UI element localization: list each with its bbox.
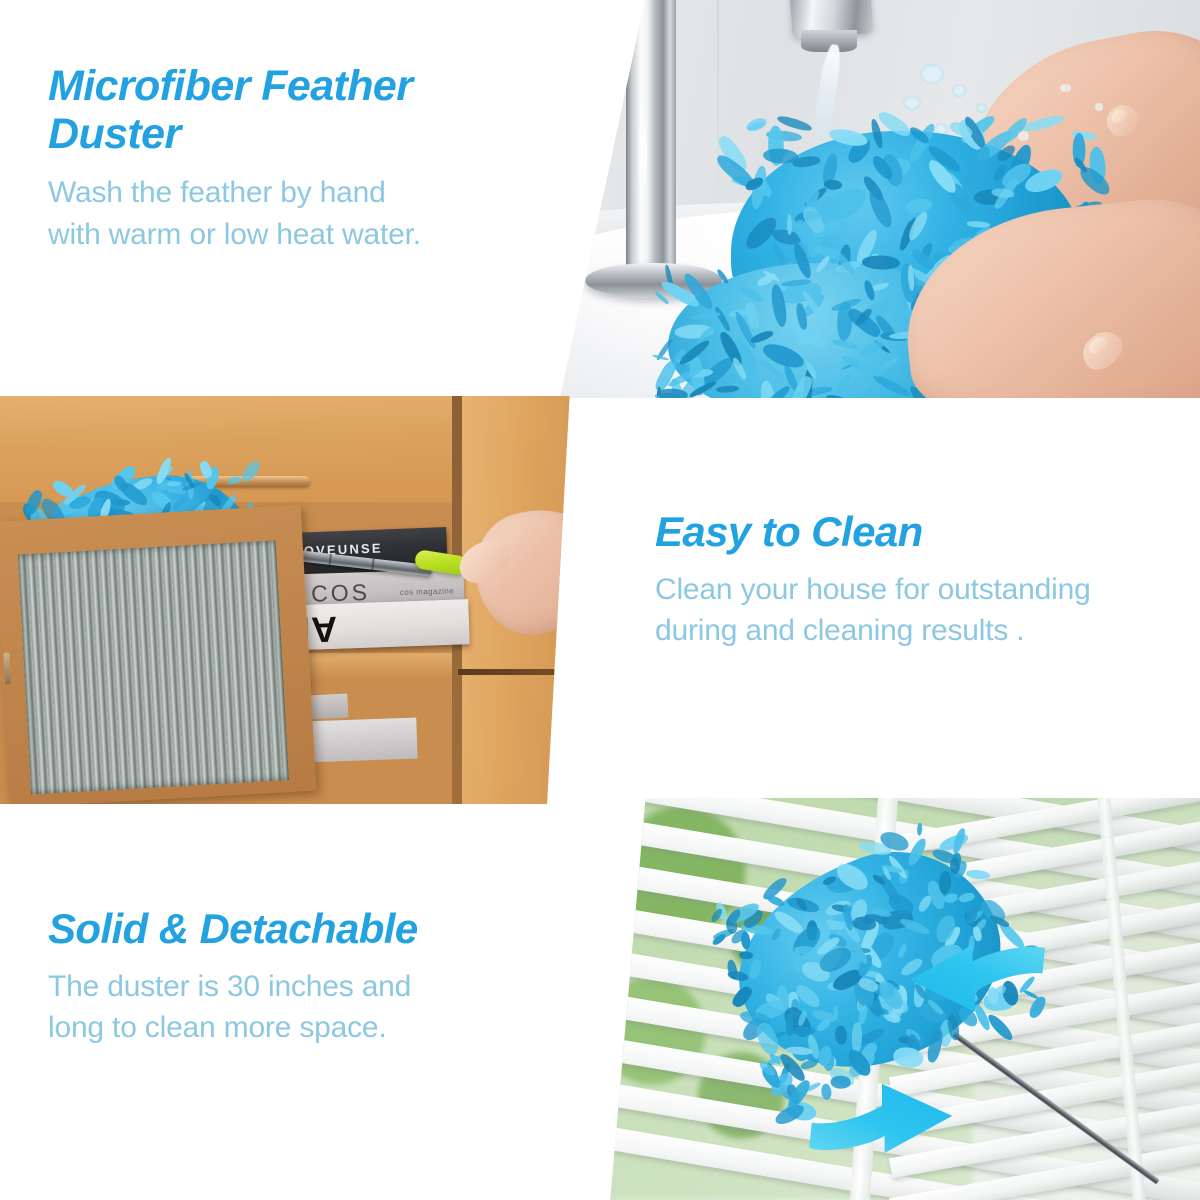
feature-1-subtitle: Wash the feather by hand with warm or lo…	[48, 172, 528, 255]
fingernail	[1109, 106, 1129, 126]
water-droplet	[1060, 84, 1071, 93]
chenille-strand	[786, 1015, 794, 1037]
water-splash	[903, 96, 921, 110]
chenille-strand	[171, 495, 187, 511]
chenille-strand	[938, 871, 952, 896]
fingernail	[1085, 334, 1109, 357]
chenille-strand	[771, 242, 787, 264]
feature-2-subtitle: Clean your house for outstanding during …	[655, 569, 1200, 652]
chenille-strand	[833, 1006, 839, 1020]
photo-panel-cabinet: BOVEUNSE Autumn and Winter COS cos magaz…	[0, 396, 580, 804]
feature-block-2: Easy to Clean Clean your house for outst…	[655, 508, 1200, 652]
finger	[1101, 99, 1144, 142]
feature-block-1: Microfiber Feather Duster Wash the feath…	[48, 62, 528, 255]
chenille-strand	[716, 384, 740, 395]
chenille-strand	[958, 890, 976, 905]
feature-1-headline: Microfiber Feather Duster	[48, 62, 528, 158]
chenille-strand	[750, 329, 775, 345]
feature-block-3: Solid & Detachable The duster is 30 inch…	[48, 905, 538, 1049]
chenille-strand	[748, 959, 762, 981]
cabinet-glass-door	[0, 505, 317, 804]
chenille-strand	[713, 305, 732, 332]
chenille-strand	[879, 354, 902, 371]
book-subtitle-right: cos magazine	[400, 586, 454, 597]
chenille-strand	[862, 256, 900, 270]
chenille-strand	[110, 498, 130, 505]
chenille-strand	[833, 371, 853, 393]
chenille-strand	[917, 894, 933, 914]
water-droplet	[1018, 131, 1029, 141]
motion-arrow-down-left-icon	[900, 943, 1050, 1031]
infographic-canvas: BOVEUNSE Autumn and Winter COS cos magaz…	[0, 0, 1200, 1200]
chenille-strand	[833, 1024, 850, 1046]
photo-panel-washing	[500, 0, 1200, 398]
water-droplet	[584, 354, 592, 360]
water-splash	[952, 84, 967, 98]
feature-2-headline: Easy to Clean	[655, 508, 1200, 555]
chenille-strand	[851, 1023, 862, 1053]
feature-3-headline: Solid & Detachable	[48, 905, 538, 952]
chenille-strand	[825, 394, 854, 398]
cabinet-right-seam	[458, 669, 580, 674]
finger	[1075, 325, 1129, 378]
chenille-strand	[738, 285, 764, 303]
chenille-strand	[692, 311, 721, 322]
chenille-strand	[824, 180, 842, 190]
door-hinge	[3, 653, 11, 685]
water-splash	[920, 64, 944, 85]
motion-arrow-up-right-icon	[804, 1067, 960, 1155]
photo-panel-blinds	[600, 798, 1200, 1200]
chenille-strand	[815, 1018, 832, 1034]
chenille-strand	[657, 389, 688, 398]
water-droplet	[549, 330, 556, 336]
feature-3-subtitle: The duster is 30 inches and long to clea…	[48, 966, 538, 1049]
faucet-column	[626, 0, 676, 287]
fluted-glass	[18, 541, 289, 795]
chenille-strand	[739, 950, 754, 960]
water-droplet	[1095, 103, 1103, 110]
